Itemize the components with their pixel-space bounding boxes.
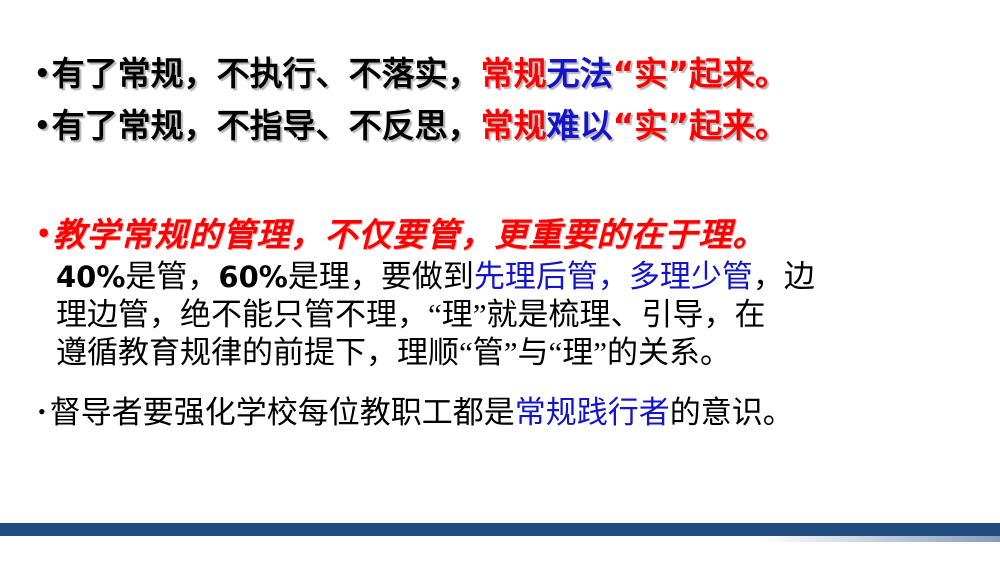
headline-1-segment-3: 无法 xyxy=(547,54,613,93)
body-line-3: 遵循教育规律的前提下，理顺“管”与“理”的关系。 xyxy=(56,334,986,372)
body-2-segment-1: 理边管，绝不能只管不理，“理”就是梳理、引导，在 xyxy=(56,297,766,332)
brush-bullet-line: •教学常规的管理，不仅要管，更重要的在于理。 xyxy=(36,212,986,257)
headline-1-segment-1: 有了常规，不执行、不落实， xyxy=(52,54,481,93)
headline-1-segment-2: 常规 xyxy=(481,54,547,93)
slide-canvas: •有了常规，不执行、不落实，常规无法“实”起来。 •有了常规，不指导、不反思，常… xyxy=(0,0,1000,562)
percent-value-reason: 60% xyxy=(218,260,287,294)
final-segment-highlight: 常规践行者 xyxy=(515,395,670,430)
brush-bullet-text: 教学常规的管理，不仅要管，更重要的在于理。 xyxy=(52,215,766,254)
body-paragraph: 40%是管，60%是理，要做到先理后管，多理少管，边 理边管，绝不能只管不理，“… xyxy=(56,258,986,372)
headline-2-segment-2: 常规 xyxy=(481,106,547,145)
final-segment-1: 督导者要强化学校每位教职工都是 xyxy=(50,395,515,430)
body-line-2: 理边管，绝不能只管不理，“理”就是梳理、引导，在 xyxy=(56,296,986,334)
bullet-icon: • xyxy=(38,399,46,424)
body-3-segment-1: 遵循教育规律的前提下，理顺“管”与“理”的关系。 xyxy=(56,335,731,370)
bullet-icon: • xyxy=(34,111,51,141)
headline-1-segment-4: “实”起来。 xyxy=(613,54,788,93)
body-line-1: 40%是管，60%是理，要做到先理后管，多理少管，边 xyxy=(56,258,986,296)
brush-bullet-group: •教学常规的管理，不仅要管，更重要的在于理。 xyxy=(36,212,986,257)
final-bullet-group: •督导者要强化学校每位教职工都是常规践行者的意识。 xyxy=(38,392,988,433)
bottom-accent-bar xyxy=(0,523,1000,536)
body-1-segment-4: 是理，要做到 xyxy=(288,259,474,294)
final-bullet-line: •督导者要强化学校每位教职工都是常规践行者的意识。 xyxy=(38,392,988,433)
bottom-accent-bar-shadow xyxy=(760,536,1000,542)
bullet-icon: • xyxy=(34,59,51,89)
final-segment-3: 的意识。 xyxy=(670,395,794,430)
body-1-segment-6: ，边 xyxy=(753,259,815,294)
headline-2-segment-1: 有了常规，不指导、不反思， xyxy=(52,106,481,145)
headline-2-segment-3: 难以 xyxy=(547,106,613,145)
headline-2-segment-4: “实”起来。 xyxy=(613,106,788,145)
body-1-segment-2: 是管， xyxy=(125,259,218,294)
bullet-icon: • xyxy=(36,219,52,248)
headline-line-2: •有了常规，不指导、不反思，常规难以“实”起来。 xyxy=(34,100,984,152)
headline-bullet-group: •有了常规，不执行、不落实，常规无法“实”起来。 •有了常规，不指导、不反思，常… xyxy=(34,48,984,152)
percent-value-manage: 40% xyxy=(56,260,125,294)
headline-line-1: •有了常规，不执行、不落实，常规无法“实”起来。 xyxy=(34,48,984,100)
body-1-segment-highlight: 先理后管，多理少管 xyxy=(474,259,753,294)
